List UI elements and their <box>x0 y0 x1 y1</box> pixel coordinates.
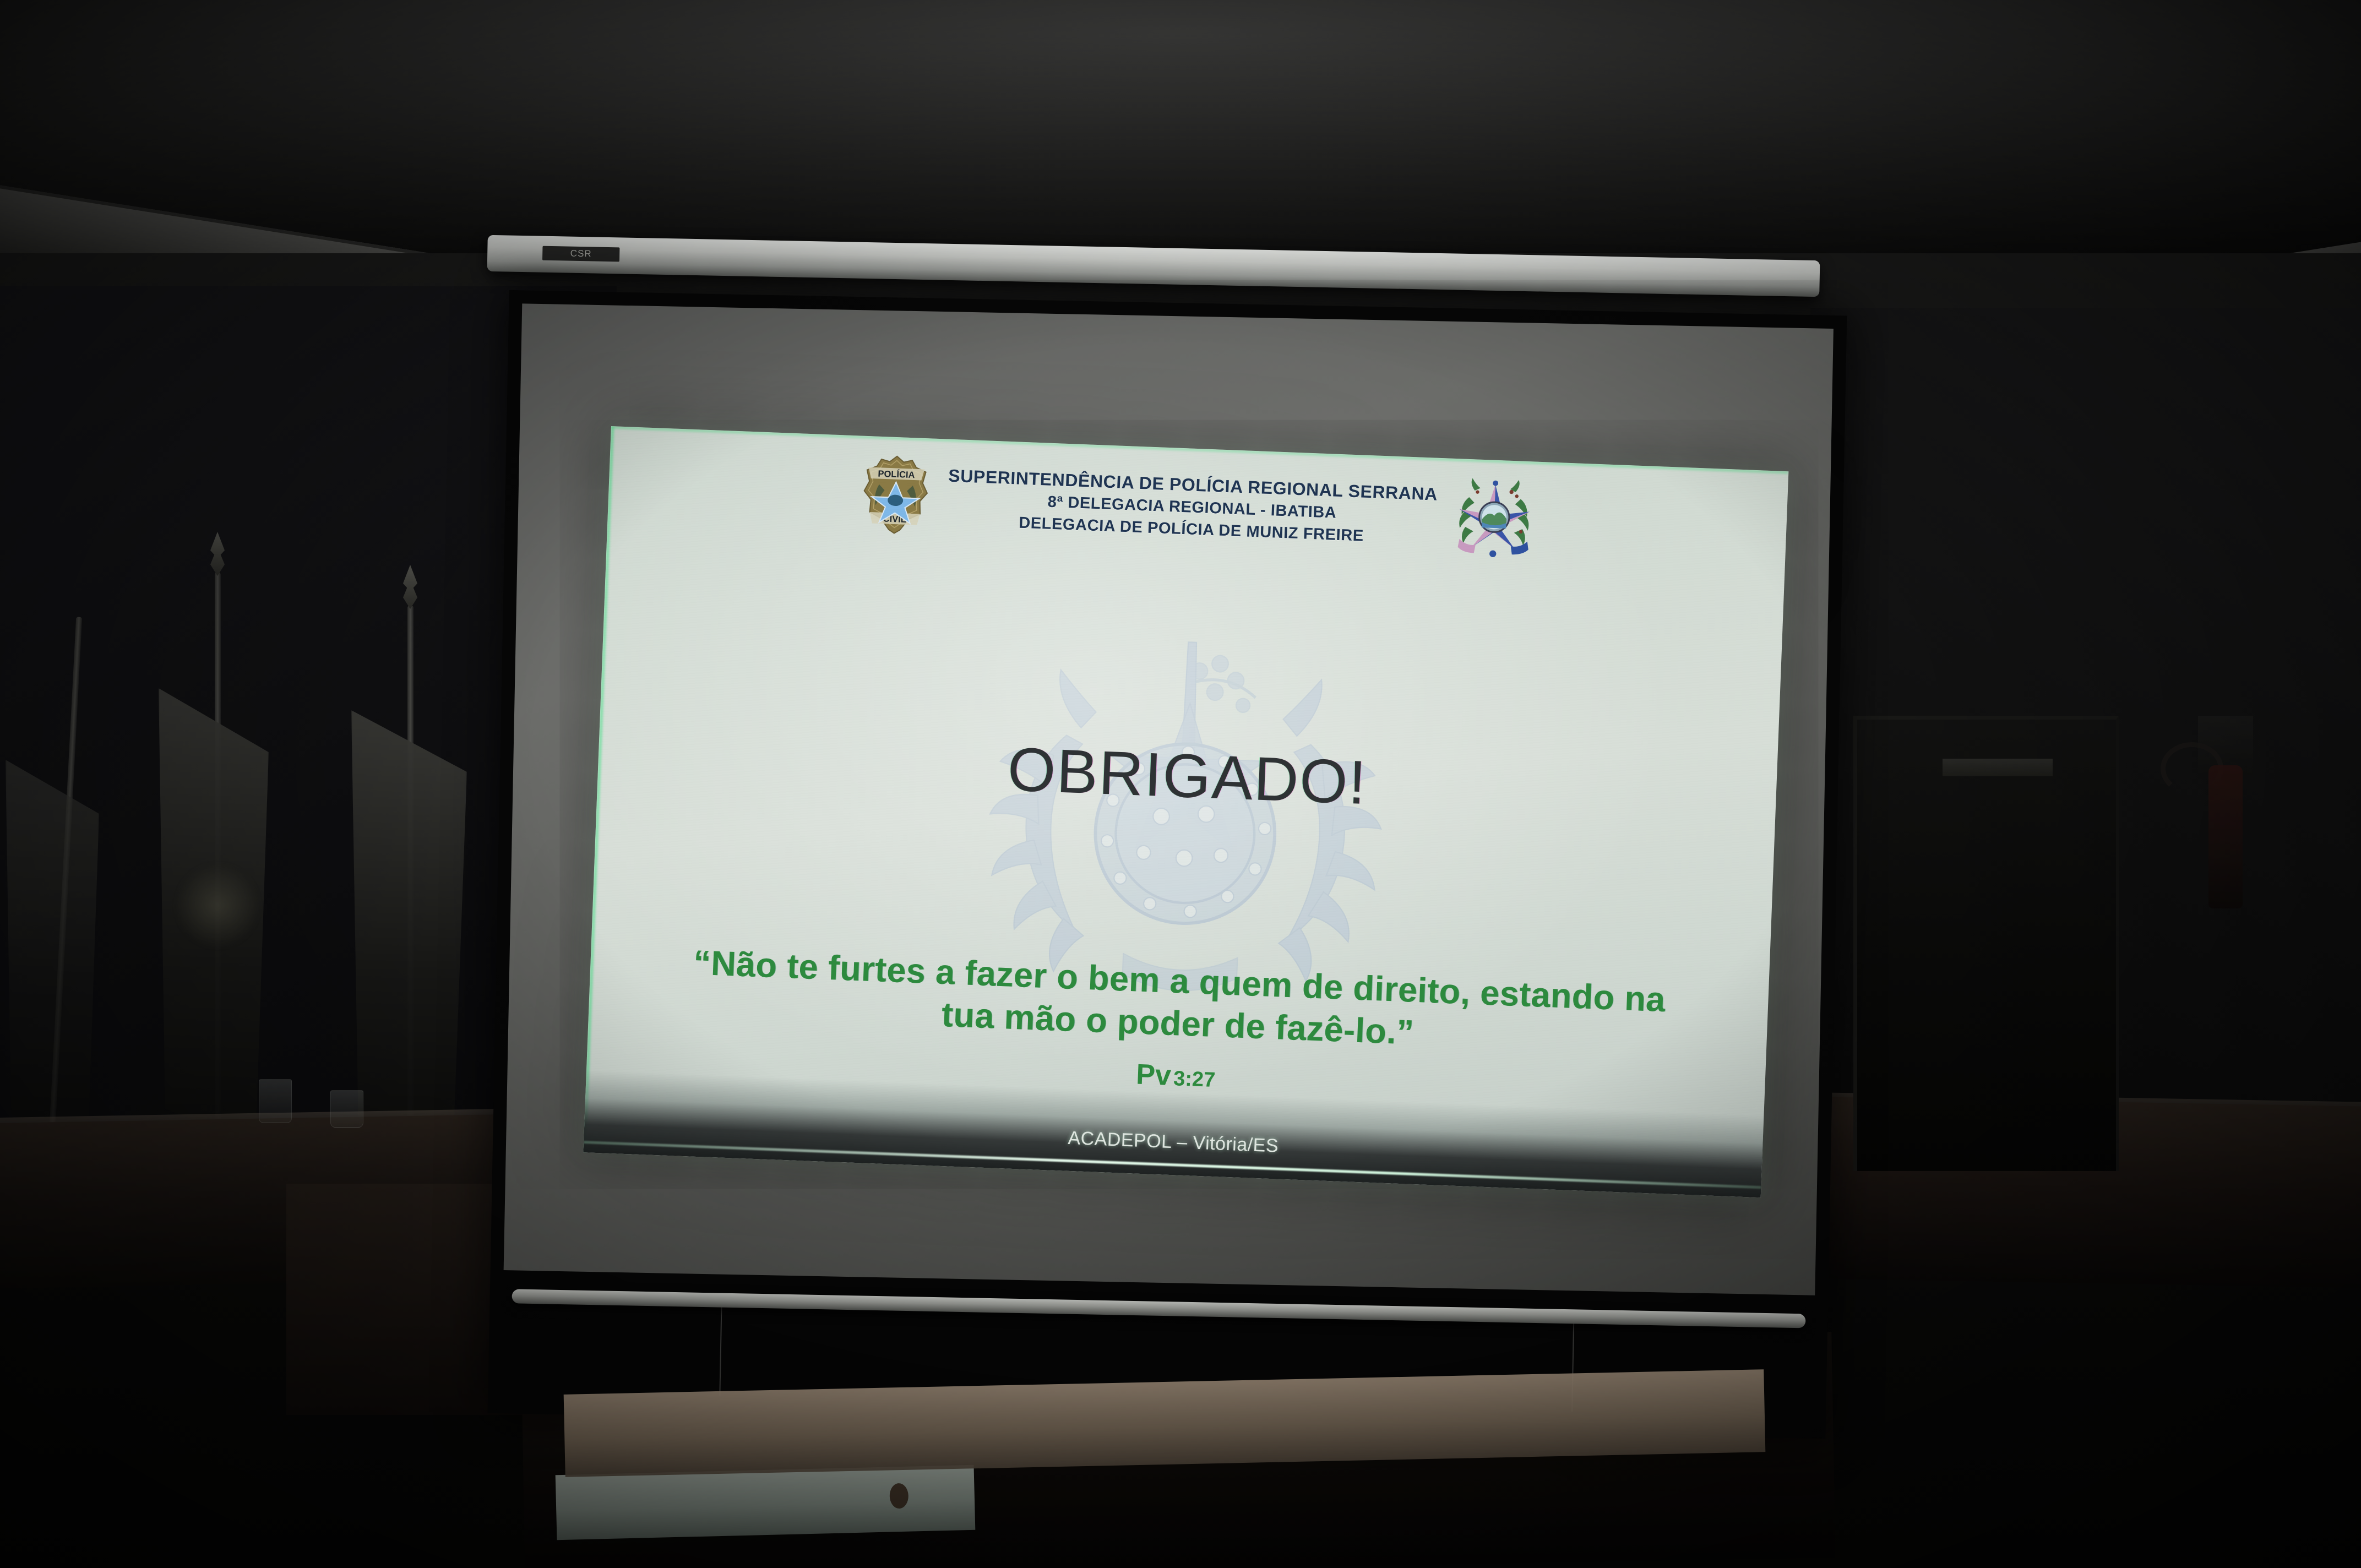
flag-cloth <box>351 710 467 1151</box>
quote-reference-verse: 3:27 <box>1173 1067 1216 1092</box>
roller-housing-label: CSR <box>542 246 619 262</box>
water-glass <box>330 1090 363 1128</box>
screen-weight-bar[interactable] <box>512 1289 1805 1328</box>
screen-tension-line-left <box>719 1305 722 1396</box>
flag-cloth <box>6 760 99 1145</box>
screen-roller-housing[interactable]: CSR <box>487 235 1820 297</box>
flag-emblem-icon <box>176 864 259 947</box>
espirito-santo-coat-of-arms-icon <box>1452 476 1537 562</box>
header-title-block: SUPERINTENDÊNCIA DE POLÍCIA REGIONAL SER… <box>946 464 1438 549</box>
quote-reference-book: Pv <box>1135 1058 1172 1091</box>
auditorium-room: CSR <box>0 0 2361 1568</box>
door-sign-plaque <box>1943 759 2053 776</box>
room-doorway[interactable] <box>1853 716 2119 1171</box>
projected-slide: POLÍCIA CIVIL SUPERINTEND <box>583 426 1788 1197</box>
screen-border-frame: POLÍCIA CIVIL SUPERINTEND <box>488 290 1847 1439</box>
water-glass <box>259 1079 292 1123</box>
policia-civil-badge-icon: POLÍCIA CIVIL <box>859 453 933 538</box>
fire-extinguisher <box>2208 765 2243 908</box>
front-desk-lit-edge <box>556 1465 976 1540</box>
slide-title: OBRIGADO! <box>597 718 1777 834</box>
svg-text:POLÍCIA: POLÍCIA <box>878 469 915 481</box>
projection-screen-assembly: CSR <box>498 231 1880 1442</box>
screen-surface: POLÍCIA CIVIL SUPERINTEND <box>504 303 1834 1295</box>
